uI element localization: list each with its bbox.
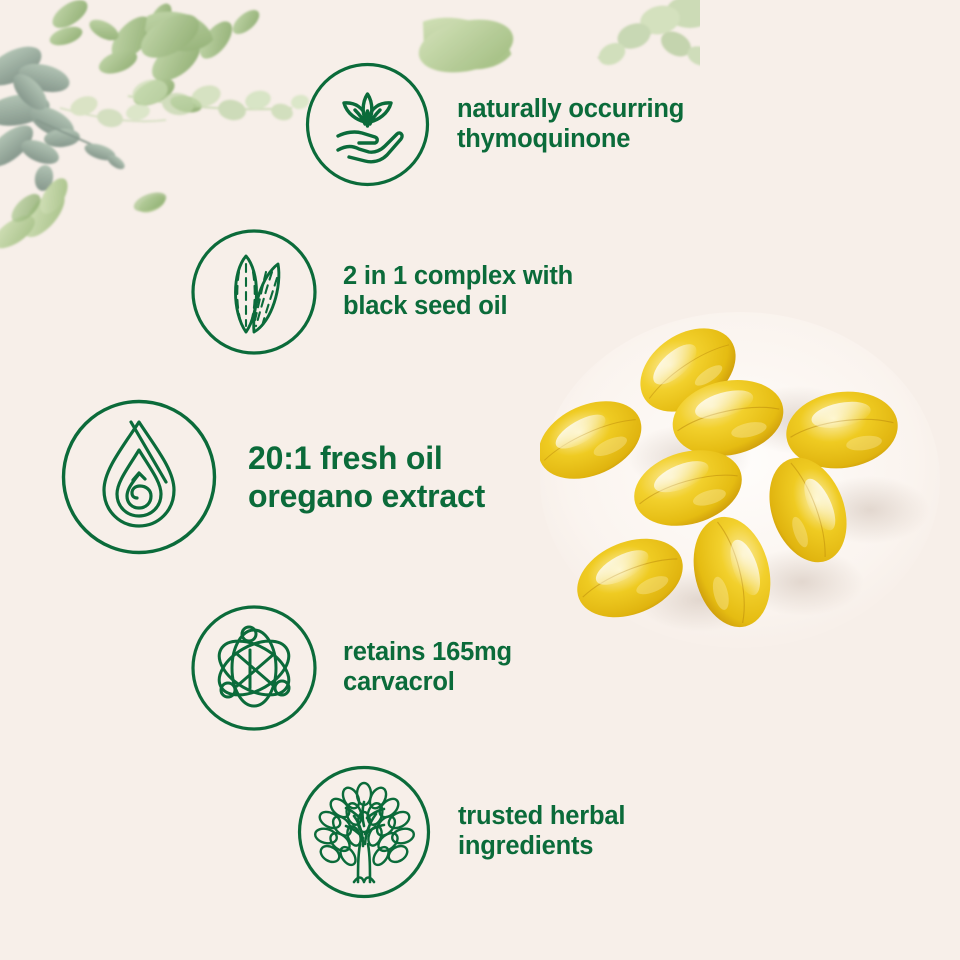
leafy-tree-icon: [296, 764, 432, 900]
black-seeds-icon: [190, 228, 318, 356]
infographic-canvas: naturally occurring thymoquinone: [0, 0, 960, 960]
feature-label: naturally occurring thymoquinone: [457, 95, 684, 155]
feature-label: retains 165mg carvacrol: [343, 638, 512, 698]
feature-label: 20:1 fresh oil oregano extract: [248, 439, 485, 516]
feature-label: 2 in 1 complex with black seed oil: [343, 262, 573, 322]
feature-row-trusted-herbal-ingredients: trusted herbal ingredients: [296, 764, 625, 900]
feature-row-fresh-oil-oregano-extract: 20:1 fresh oil oregano extract: [60, 398, 485, 556]
feature-row-naturally-occurring-thymoquinone: naturally occurring thymoquinone: [305, 62, 684, 187]
atom-molecule-icon: [190, 604, 318, 732]
oil-droplet-spiral-icon: [60, 398, 218, 556]
feature-row-retains-carvacrol: retains 165mg carvacrol: [190, 604, 512, 732]
feature-row-two-in-one-complex: 2 in 1 complex with black seed oil: [190, 228, 573, 356]
hand-holding-sprout-icon: [305, 62, 430, 187]
softgel-capsules-cluster: [540, 310, 940, 650]
feature-label: trusted herbal ingredients: [458, 802, 625, 862]
